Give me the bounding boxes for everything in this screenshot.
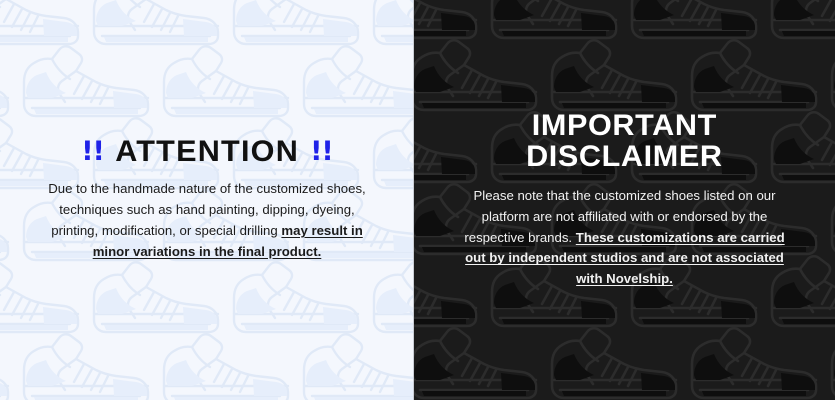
disclaimer-heading-line1: IMPORTANT: [526, 110, 723, 142]
disclaimer-body-text: Please note that the customized shoes li…: [460, 186, 790, 290]
attention-body-text: Due to the handmade nature of the custom…: [47, 179, 367, 262]
attention-heading: !! ATTENTION !!: [81, 137, 333, 167]
disclaimer-panel: IMPORTANT DISCLAIMER Please note that th…: [414, 0, 835, 400]
disclaimer-heading: IMPORTANT DISCLAIMER: [528, 110, 721, 173]
disclaimer-banner: !! ATTENTION !! Due to the handmade natu…: [0, 0, 835, 400]
disclaimer-heading-line2: DISCLAIMER: [526, 141, 723, 173]
panel-divider: [413, 0, 414, 400]
exclamation-icon-right: !!: [310, 138, 333, 165]
attention-panel: !! ATTENTION !! Due to the handmade natu…: [0, 0, 414, 400]
attention-heading-text: ATTENTION: [115, 137, 299, 167]
exclamation-icon-left: !!: [81, 138, 104, 165]
